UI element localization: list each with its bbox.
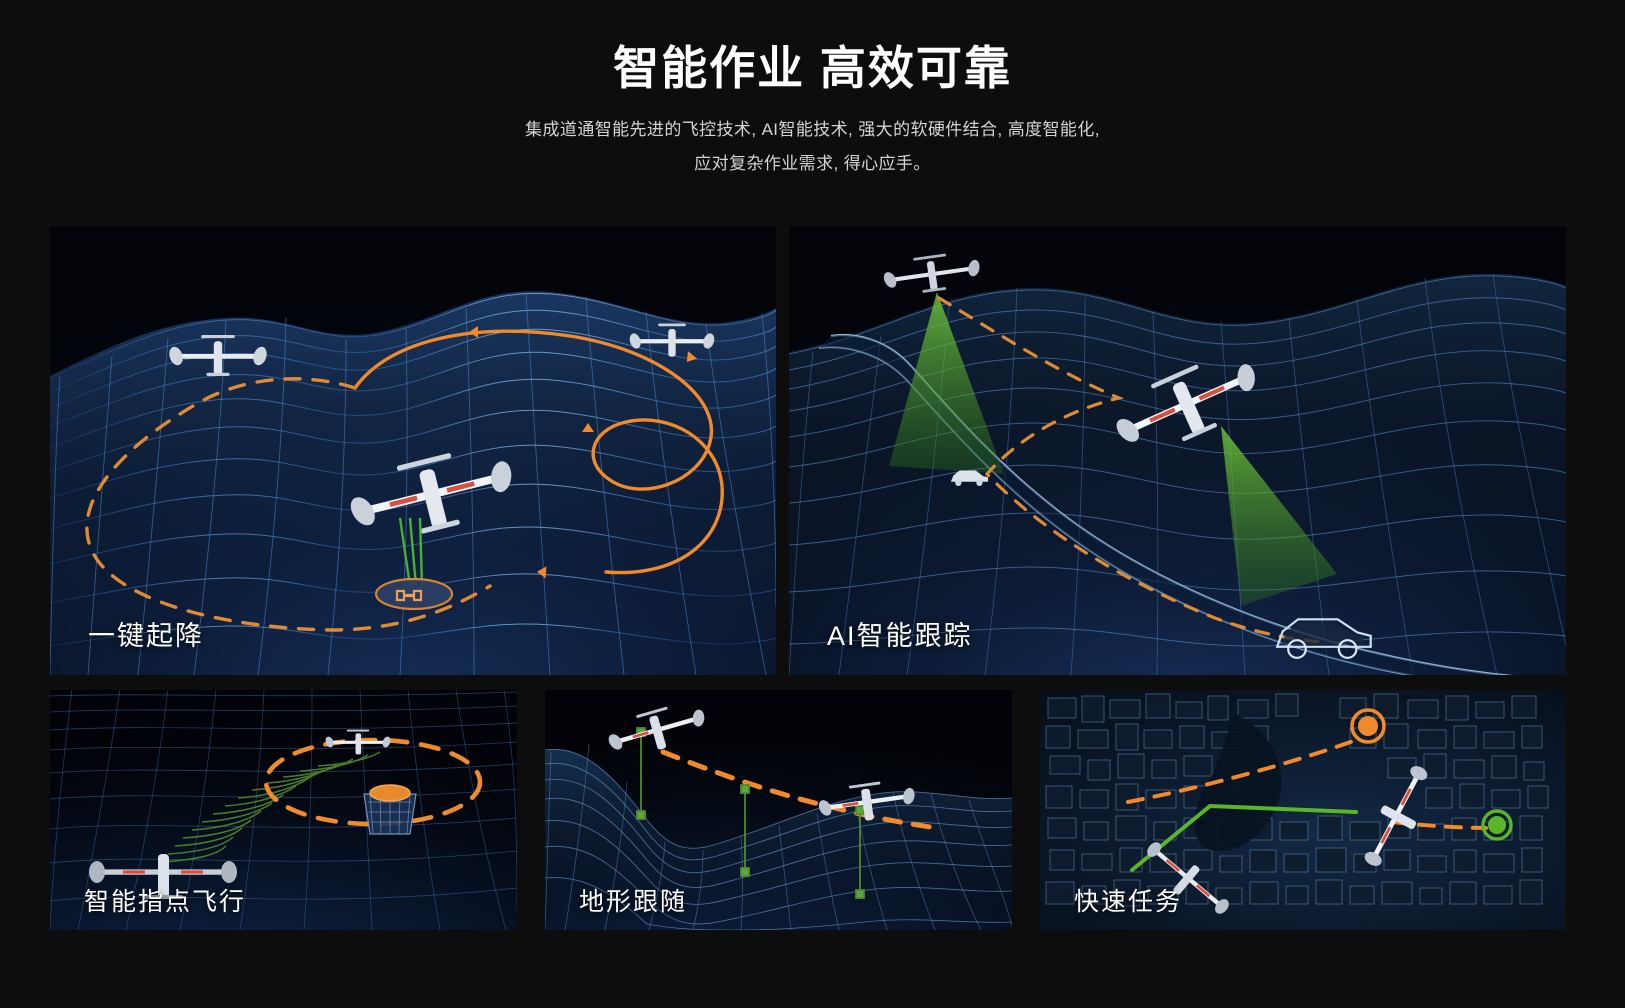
feature-card-label: 地形跟随	[579, 882, 687, 918]
feature-card-label: 智能指点飞行	[84, 882, 246, 918]
page-subtitle-line-1: 集成道通智能先进的飞控技术, AI智能技术, 强大的软硬件结合, 高度智能化,	[0, 113, 1625, 147]
feature-page: { "header": { "title": "智能作业 高效可靠", "sub…	[0, 0, 1625, 1008]
drone-vtol-icon	[1356, 760, 1441, 875]
drone-vtol-icon	[628, 324, 716, 357]
page-subtitle-line-2: 应对复杂作业需求, 得心应手。	[0, 147, 1625, 181]
drone-vtol-icon	[602, 697, 712, 763]
car-icon	[1277, 619, 1371, 658]
car-icon	[951, 471, 988, 487]
feature-card-pointfly[interactable]: 智能指点飞行	[50, 690, 517, 930]
feature-card-label: AI智能跟踪	[827, 614, 973, 653]
feature-card-label: 一键起降	[88, 614, 204, 653]
tracking-aircraft-layer	[789, 226, 1566, 675]
page-title: 智能作业 高效可靠	[0, 0, 1625, 91]
drone-vtol-icon	[167, 335, 269, 376]
drone-vtol-icon	[1103, 343, 1271, 466]
drone-vtol-icon	[324, 730, 392, 755]
drone-vtol-icon	[815, 777, 920, 828]
feature-card-label: 快速任务	[1074, 882, 1182, 918]
page-header: 智能作业 高效可靠 集成道通智能先进的飞控技术, AI智能技术, 强大的软硬件结…	[0, 0, 1625, 181]
feature-card-terrain[interactable]: 地形跟随	[545, 690, 1012, 930]
page-subtitle: 集成道通智能先进的飞控技术, AI智能技术, 强大的软硬件结合, 高度智能化, …	[0, 91, 1625, 181]
takeoff-aircraft-layer	[50, 226, 776, 675]
drone-vtol-icon	[340, 439, 524, 550]
feature-card-tracking[interactable]: AI智能跟踪	[789, 226, 1566, 675]
drone-vtol-icon	[880, 249, 985, 299]
feature-card-takeoff[interactable]: 一键起降	[50, 226, 776, 675]
feature-card-mission[interactable]: 快速任务	[1040, 690, 1566, 930]
landing-pad-icon	[376, 579, 452, 609]
